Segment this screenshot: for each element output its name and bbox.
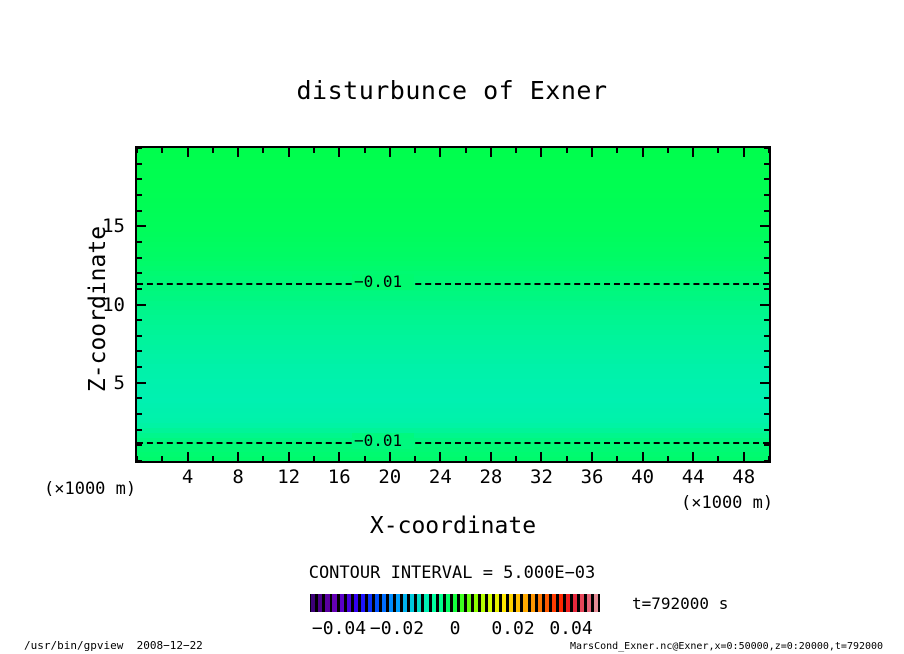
time-annotation: t=792000 s <box>632 594 728 613</box>
colorbar-label-layer: −0.04−0.0200.020.04 <box>0 0 904 654</box>
colorbar-tick-label: 0.04 <box>526 618 616 639</box>
footer-command-text: /usr/bin/gpview 2008−12−22 <box>24 639 203 652</box>
footer-dataset-text: MarsCond_Exner.nc@Exner,x=0:50000,z=0:20… <box>570 641 883 652</box>
